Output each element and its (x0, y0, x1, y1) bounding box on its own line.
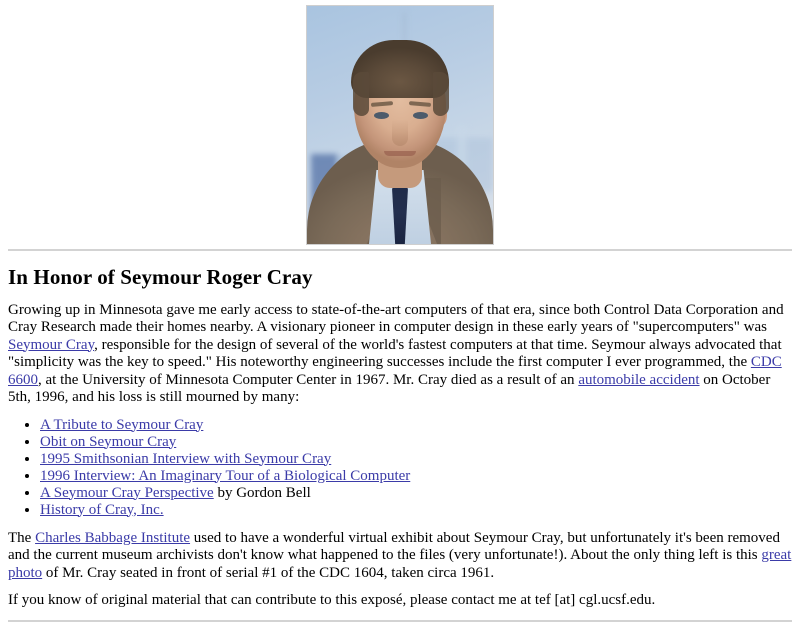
link-seymour-cray[interactable]: Seymour Cray (8, 337, 94, 353)
eye-left-shape (374, 112, 389, 119)
babbage-text-part-3: of Mr. Cray seated in front of serial #1… (42, 565, 494, 581)
link-automobile-accident[interactable]: automobile accident (578, 372, 699, 388)
list-item-suffix: by Gordon Bell (214, 485, 311, 501)
resource-link-list: A Tribute to Seymour Cray Obit on Seymou… (8, 417, 792, 519)
link-a-tribute-to-seymour-cray[interactable]: A Tribute to Seymour Cray (40, 417, 203, 433)
nose-shape (392, 120, 408, 146)
babbage-text-part-1: The (8, 530, 35, 546)
mouth-shape (384, 151, 416, 156)
link-1995-smithsonian-interview[interactable]: 1995 Smithsonian Interview with Seymour … (40, 451, 331, 467)
divider-bottom (8, 620, 792, 622)
link-charles-babbage-institute[interactable]: Charles Babbage Institute (35, 530, 190, 546)
intro-text-part-3: , at the University of Minnesota Compute… (38, 372, 578, 388)
link-history-of-cray-inc[interactable]: History of Cray, Inc. (40, 502, 164, 518)
list-item: A Seymour Cray Perspective by Gordon Bel… (40, 485, 792, 502)
portrait-block (8, 0, 792, 245)
hair-side-right-shape (433, 72, 449, 116)
contact-paragraph: If you know of original material that ca… (8, 592, 792, 610)
link-a-seymour-cray-perspective[interactable]: A Seymour Cray Perspective (40, 485, 214, 501)
intro-paragraph: Growing up in Minnesota gave me early ac… (8, 302, 792, 407)
list-item: History of Cray, Inc. (40, 502, 792, 519)
portrait-photo-seymour-cray (306, 5, 494, 245)
page-root: In Honor of Seymour Roger Cray Growing u… (0, 0, 800, 622)
list-item: 1996 Interview: An Imaginary Tour of a B… (40, 468, 792, 485)
link-1996-interview-biological-computer[interactable]: 1996 Interview: An Imaginary Tour of a B… (40, 468, 410, 484)
intro-text-part-1: Growing up in Minnesota gave me early ac… (8, 302, 784, 336)
list-item: Obit on Seymour Cray (40, 434, 792, 451)
hair-side-left-shape (353, 72, 369, 116)
divider-top (8, 249, 792, 251)
page-title: In Honor of Seymour Roger Cray (8, 265, 792, 290)
intro-text-part-2: , responsible for the design of several … (8, 337, 782, 371)
list-item: A Tribute to Seymour Cray (40, 417, 792, 434)
link-obit-on-seymour-cray[interactable]: Obit on Seymour Cray (40, 434, 176, 450)
eye-right-shape (413, 112, 428, 119)
list-item: 1995 Smithsonian Interview with Seymour … (40, 451, 792, 468)
babbage-paragraph: The Charles Babbage Institute used to ha… (8, 530, 792, 583)
